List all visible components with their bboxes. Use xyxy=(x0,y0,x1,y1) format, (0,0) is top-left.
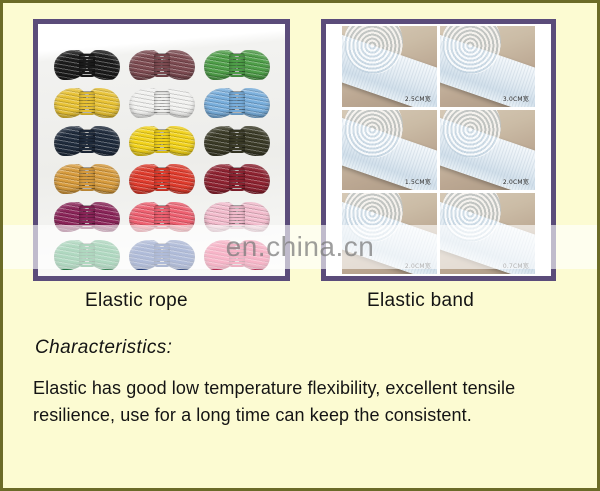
rope-hank-waist xyxy=(154,129,170,153)
rope-hank-dark-olive xyxy=(200,122,273,160)
elastic-band-photo: 2.5CM宽3.0CM宽1.5CM宽2.0CM宽2.0CM宽0.7CM宽 xyxy=(326,24,551,276)
band-width-label: 0.7CM宽 xyxy=(503,261,529,270)
caption-elastic-rope: Elastic rope xyxy=(85,290,188,312)
rope-hank-waist xyxy=(79,91,95,115)
band-sample-cell: 2.0CM宽 xyxy=(342,193,437,274)
rope-hank-purple xyxy=(50,198,123,236)
rope-color-grid xyxy=(38,44,285,274)
band-width-label: 2.0CM宽 xyxy=(405,261,431,270)
rope-hank-waist xyxy=(229,91,245,115)
rope-hank-navy xyxy=(50,122,123,160)
rope-hank-orange-tan xyxy=(50,160,123,198)
rope-hank-waist xyxy=(79,129,95,153)
band-width-label: 3.0CM宽 xyxy=(503,94,529,103)
rope-hank-shape xyxy=(129,240,195,270)
rope-hank-shape xyxy=(204,202,270,232)
elastic-rope-photo xyxy=(38,24,285,276)
band-width-label: 2.5CM宽 xyxy=(405,94,431,103)
rope-hank-shape xyxy=(54,164,120,194)
elastic-rope-photo-frame xyxy=(33,19,290,281)
rope-hank-waist xyxy=(229,205,245,229)
rope-hank-black xyxy=(50,46,123,84)
rope-hank-shape xyxy=(129,126,195,156)
rope-hank-waist xyxy=(229,129,245,153)
rope-hank-waist xyxy=(154,91,170,115)
rope-hank-waist xyxy=(229,243,245,267)
rope-hank-waist xyxy=(79,53,95,77)
rope-hank-waist xyxy=(79,205,95,229)
rope-hank-blue xyxy=(125,236,198,274)
rope-hank-green xyxy=(200,46,273,84)
rope-hank-coral xyxy=(125,198,198,236)
characteristics-body: Elastic has good low temperature flexibi… xyxy=(33,375,578,429)
rope-hank-shape xyxy=(204,240,270,270)
rope-hank-gold xyxy=(50,84,123,122)
band-sample-cell: 1.5CM宽 xyxy=(342,110,437,191)
rope-hank-red xyxy=(125,160,198,198)
rope-hank-shape xyxy=(54,240,120,270)
rope-hank-waist xyxy=(229,167,245,191)
rope-hank-waist xyxy=(154,205,170,229)
rope-hank-shape xyxy=(129,88,195,118)
rope-hank-shape xyxy=(204,164,270,194)
band-sample-cell: 2.5CM宽 xyxy=(342,26,437,107)
rope-hank-shape xyxy=(204,88,270,118)
rope-hank-waist xyxy=(154,167,170,191)
band-width-label: 2.0CM宽 xyxy=(503,177,529,186)
rope-hank-light-blue xyxy=(200,84,273,122)
elastic-band-photo-frame: 2.5CM宽3.0CM宽1.5CM宽2.0CM宽2.0CM宽0.7CM宽 xyxy=(321,19,556,281)
product-info-panel: 2.5CM宽3.0CM宽1.5CM宽2.0CM宽2.0CM宽0.7CM宽 en.… xyxy=(0,0,600,491)
rope-hank-dark-red xyxy=(200,160,273,198)
rope-hank-yellow xyxy=(125,122,198,160)
rope-hank-white xyxy=(125,84,198,122)
rope-hank-shape xyxy=(54,126,120,156)
rope-hank-shape xyxy=(54,50,120,80)
rope-hank-shape xyxy=(204,50,270,80)
band-sample-cell: 0.7CM宽 xyxy=(440,193,535,274)
rope-hank-shape xyxy=(129,202,195,232)
rope-hank-shape xyxy=(129,50,195,80)
rope-hank-maroon xyxy=(125,46,198,84)
characteristics-heading: Characteristics: xyxy=(35,337,172,359)
band-sample-cell: 2.0CM宽 xyxy=(440,110,535,191)
caption-elastic-band: Elastic band xyxy=(367,290,474,312)
rope-hank-hot-pink xyxy=(200,236,273,274)
band-sample-cell: 3.0CM宽 xyxy=(440,26,535,107)
rope-hank-waist xyxy=(79,243,95,267)
rope-hank-light-pink xyxy=(200,198,273,236)
rope-hank-shape xyxy=(54,202,120,232)
rope-hank-waist xyxy=(79,167,95,191)
rope-hank-waist xyxy=(229,53,245,77)
rope-hank-kelly-green xyxy=(50,236,123,274)
rope-hank-shape xyxy=(129,164,195,194)
band-width-label: 1.5CM宽 xyxy=(405,177,431,186)
rope-hank-waist xyxy=(154,243,170,267)
rope-hank-waist xyxy=(154,53,170,77)
rope-hank-shape xyxy=(54,88,120,118)
rope-hank-shape xyxy=(204,126,270,156)
